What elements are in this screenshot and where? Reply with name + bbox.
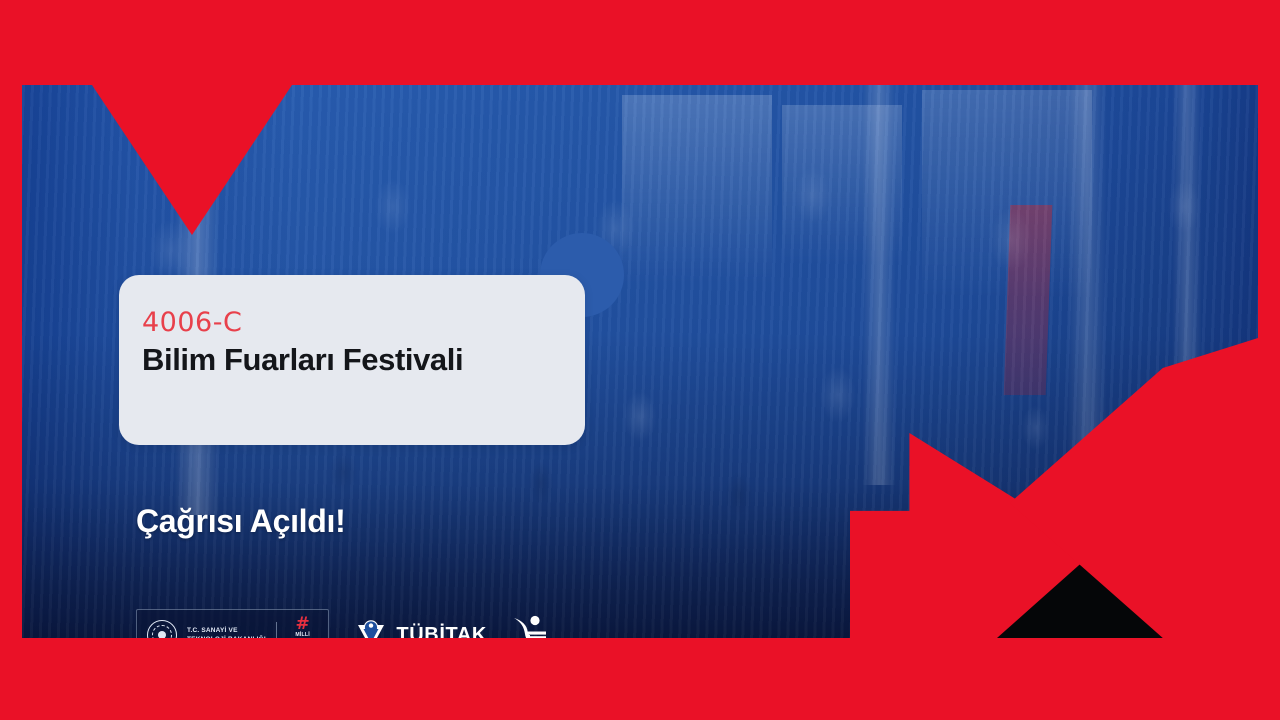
milli-teknoloji-hamlesi-logo: # MİLLİ TEKNOLOJİ HAMLESİ <box>287 617 319 638</box>
program-code: 4006-C <box>142 307 463 338</box>
tubitak-logo: TÜBİTAK <box>355 619 486 638</box>
milli-teknoloji-hamlesi-label: MİLLİ TEKNOLOJİ HAMLESİ <box>287 632 319 638</box>
ministry-line-1: T.C. SANAYİ VE <box>187 626 266 635</box>
ministry-line-2: TEKNOLOJİ BAKANLIĞI <box>187 635 266 638</box>
title-card-content: 4006-C Bilim Fuarları Festivali <box>142 307 463 380</box>
tubitak-wordmark: TÜBİTAK <box>396 624 486 638</box>
banner-image-area: 4006-C Bilim Fuarları Festivali Çağrısı … <box>22 85 1258 638</box>
bilim-fuarlari-logo: BİLİM FUARLARI <box>513 614 547 638</box>
bilim-fuarlari-figure-icon <box>513 614 547 638</box>
mth-line-1: MİLLİ <box>287 632 319 638</box>
ministry-logo-label: T.C. SANAYİ VE TEKNOLOJİ BAKANLIĞI <box>187 626 266 638</box>
title-card: 4006-C Bilim Fuarları Festivali <box>119 275 585 445</box>
page-title: Bilim Fuarları Festivali <box>142 341 463 380</box>
poster-root: 4006-C Bilim Fuarları Festivali Çağrısı … <box>0 0 1280 720</box>
ministry-seal-icon <box>147 620 177 638</box>
logo-strip: T.C. SANAYİ VE TEKNOLOJİ BAKANLIĞI # MİL… <box>136 609 547 638</box>
tubitak-emblem-icon <box>355 619 387 638</box>
headline-text: Çağrısı Açıldı! <box>136 503 345 540</box>
ministry-logo-group: T.C. SANAYİ VE TEKNOLOJİ BAKANLIĞI # MİL… <box>136 609 329 638</box>
logo-divider <box>276 622 277 638</box>
hashtag-icon: # <box>296 617 310 631</box>
